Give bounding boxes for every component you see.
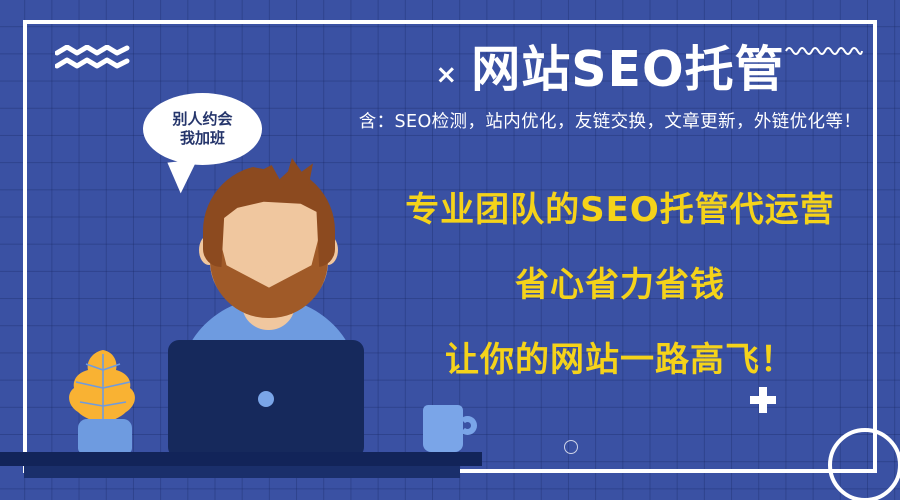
zigzag-waves-icon <box>55 45 130 71</box>
plant-illustration <box>58 348 148 454</box>
slogan-line-3: 让你的网站一路高飞！ <box>370 343 870 377</box>
speech-bubble-line-1: 别人约会 <box>172 110 232 129</box>
speech-bubble-tail <box>167 160 200 195</box>
subtitle-text: 含：SEO检测，站内优化，友链交换，文章更新，外链优化等！ <box>330 108 890 133</box>
person-hair-tuft <box>283 158 313 188</box>
laptop-icon <box>168 340 364 458</box>
mug-body <box>423 405 463 452</box>
page-title: × 网站SEO托管 <box>330 44 890 97</box>
plus-icon <box>750 387 776 413</box>
corner-circle-icon <box>828 428 900 500</box>
speech-bubble: 别人约会 我加班 <box>143 93 262 165</box>
ring-icon <box>564 440 578 454</box>
desk-surface <box>0 452 482 466</box>
laptop-logo-icon <box>258 391 274 407</box>
mug-icon <box>423 405 481 455</box>
title-text: 网站SEO托管 <box>471 44 784 97</box>
plant-pot <box>78 419 132 454</box>
slogan-block: 专业团队的SEO托管代运营 省心省力省钱 让你的网站一路高飞！ <box>370 193 870 377</box>
desk-apron <box>24 466 460 478</box>
seo-promo-banner: × 网站SEO托管 含：SEO检测，站内优化，友链交换，文章更新，外链优化等！ … <box>0 0 900 500</box>
headline-block: × 网站SEO托管 含：SEO检测，站内优化，友链交换，文章更新，外链优化等！ <box>330 44 890 133</box>
person-mouth <box>249 266 289 279</box>
speech-bubble-line-2: 我加班 <box>180 129 225 148</box>
title-bullet-icon: × <box>435 62 457 88</box>
slogan-line-1: 专业团队的SEO托管代运营 <box>370 193 870 227</box>
plant-leaf-icon <box>64 348 142 428</box>
slogan-line-2: 省心省力省钱 <box>370 268 870 302</box>
